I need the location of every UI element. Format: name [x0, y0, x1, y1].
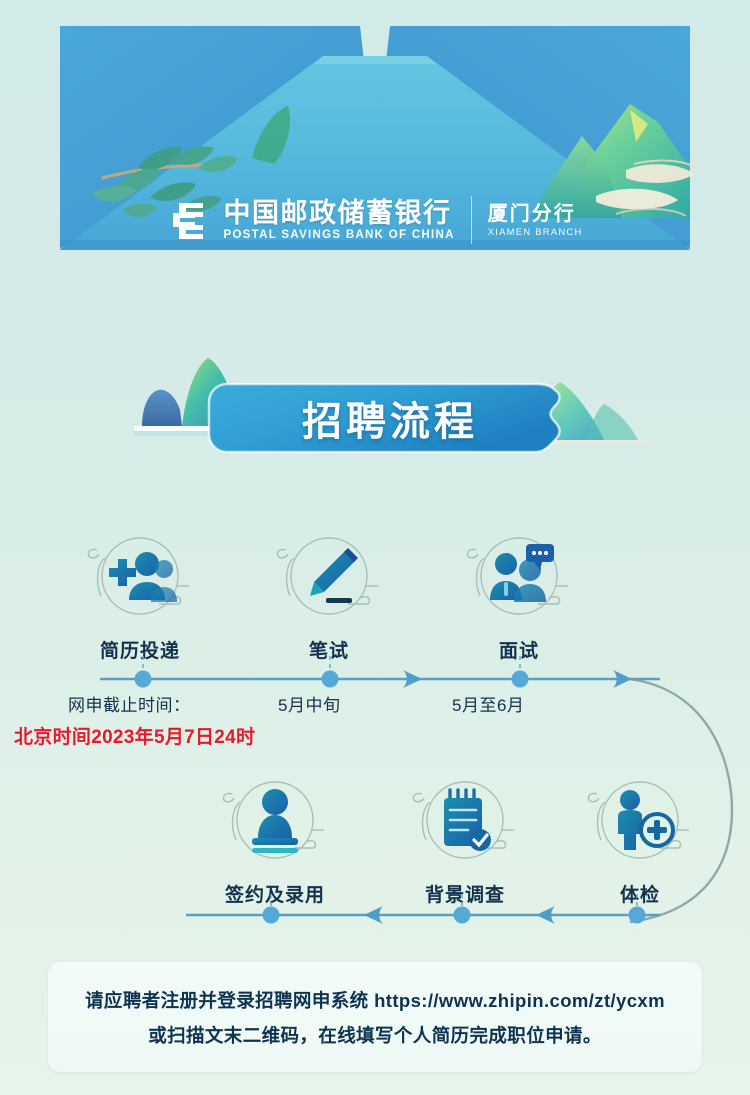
step-physical-exam[interactable]: 体检 [565, 768, 715, 907]
step-written-test[interactable]: 笔试 [254, 524, 404, 663]
application-note-card: 请应聘者注册并登录招聘网申系统 https://www.zhipin.com/z… [48, 962, 702, 1072]
stamp-icon [220, 768, 330, 878]
note-line-2: 或扫描文末二维码，在线填写个人简历完成职位申请。 [148, 1022, 602, 1048]
timeline-label: 5月中旬 [278, 691, 340, 716]
bank-name-en: POSTAL SAVINGS BANK OF CHINA [223, 228, 454, 242]
step-resume-submission[interactable]: 简历投递 [65, 524, 215, 663]
timeline-row-2 [0, 890, 750, 950]
add-people-icon [85, 524, 195, 634]
pencil-icon [274, 524, 384, 634]
checklist-notepad-icon [410, 768, 520, 878]
timeline-label: 网申截止时间： [68, 691, 191, 716]
interview-people-icon [464, 524, 574, 634]
bank-name-cn: 中国邮政储蓄银行 [223, 198, 454, 228]
branch-name-en: XIAMEN BRANCH [488, 226, 583, 239]
poster-root: 中国邮政储蓄银行 POSTAL SAVINGS BANK OF CHINA 厦门… [0, 0, 750, 1095]
branch-name-cn: 厦门分行 [488, 202, 583, 226]
page-title: 招聘流程 [205, 378, 575, 458]
timeline-arrow-line-2 [0, 890, 750, 950]
medical-checkup-icon [585, 768, 695, 878]
step-interview[interactable]: 面试 [444, 524, 594, 663]
title-section: 招聘流程 [0, 330, 750, 475]
header-banner: 中国邮政储蓄银行 POSTAL SAVINGS BANK OF CHINA 厦门… [30, 18, 720, 278]
logo-divider [471, 196, 472, 244]
application-deadline: 北京时间2023年5月7日24时 [14, 722, 255, 749]
note-line-1: 请应聘者注册并登录招聘网申系统 https://www.zhipin.com/z… [85, 987, 665, 1013]
timeline-label: 5月至6月 [452, 691, 524, 716]
bank-logo-lockup: 中国邮政储蓄银行 POSTAL SAVINGS BANK OF CHINA 厦门… [30, 196, 720, 244]
step-contract-and-hiring[interactable]: 签约及录用 [200, 768, 350, 907]
step-background-check[interactable]: 背景调查 [390, 768, 540, 907]
postal-savings-bank-logo-icon [167, 197, 213, 243]
